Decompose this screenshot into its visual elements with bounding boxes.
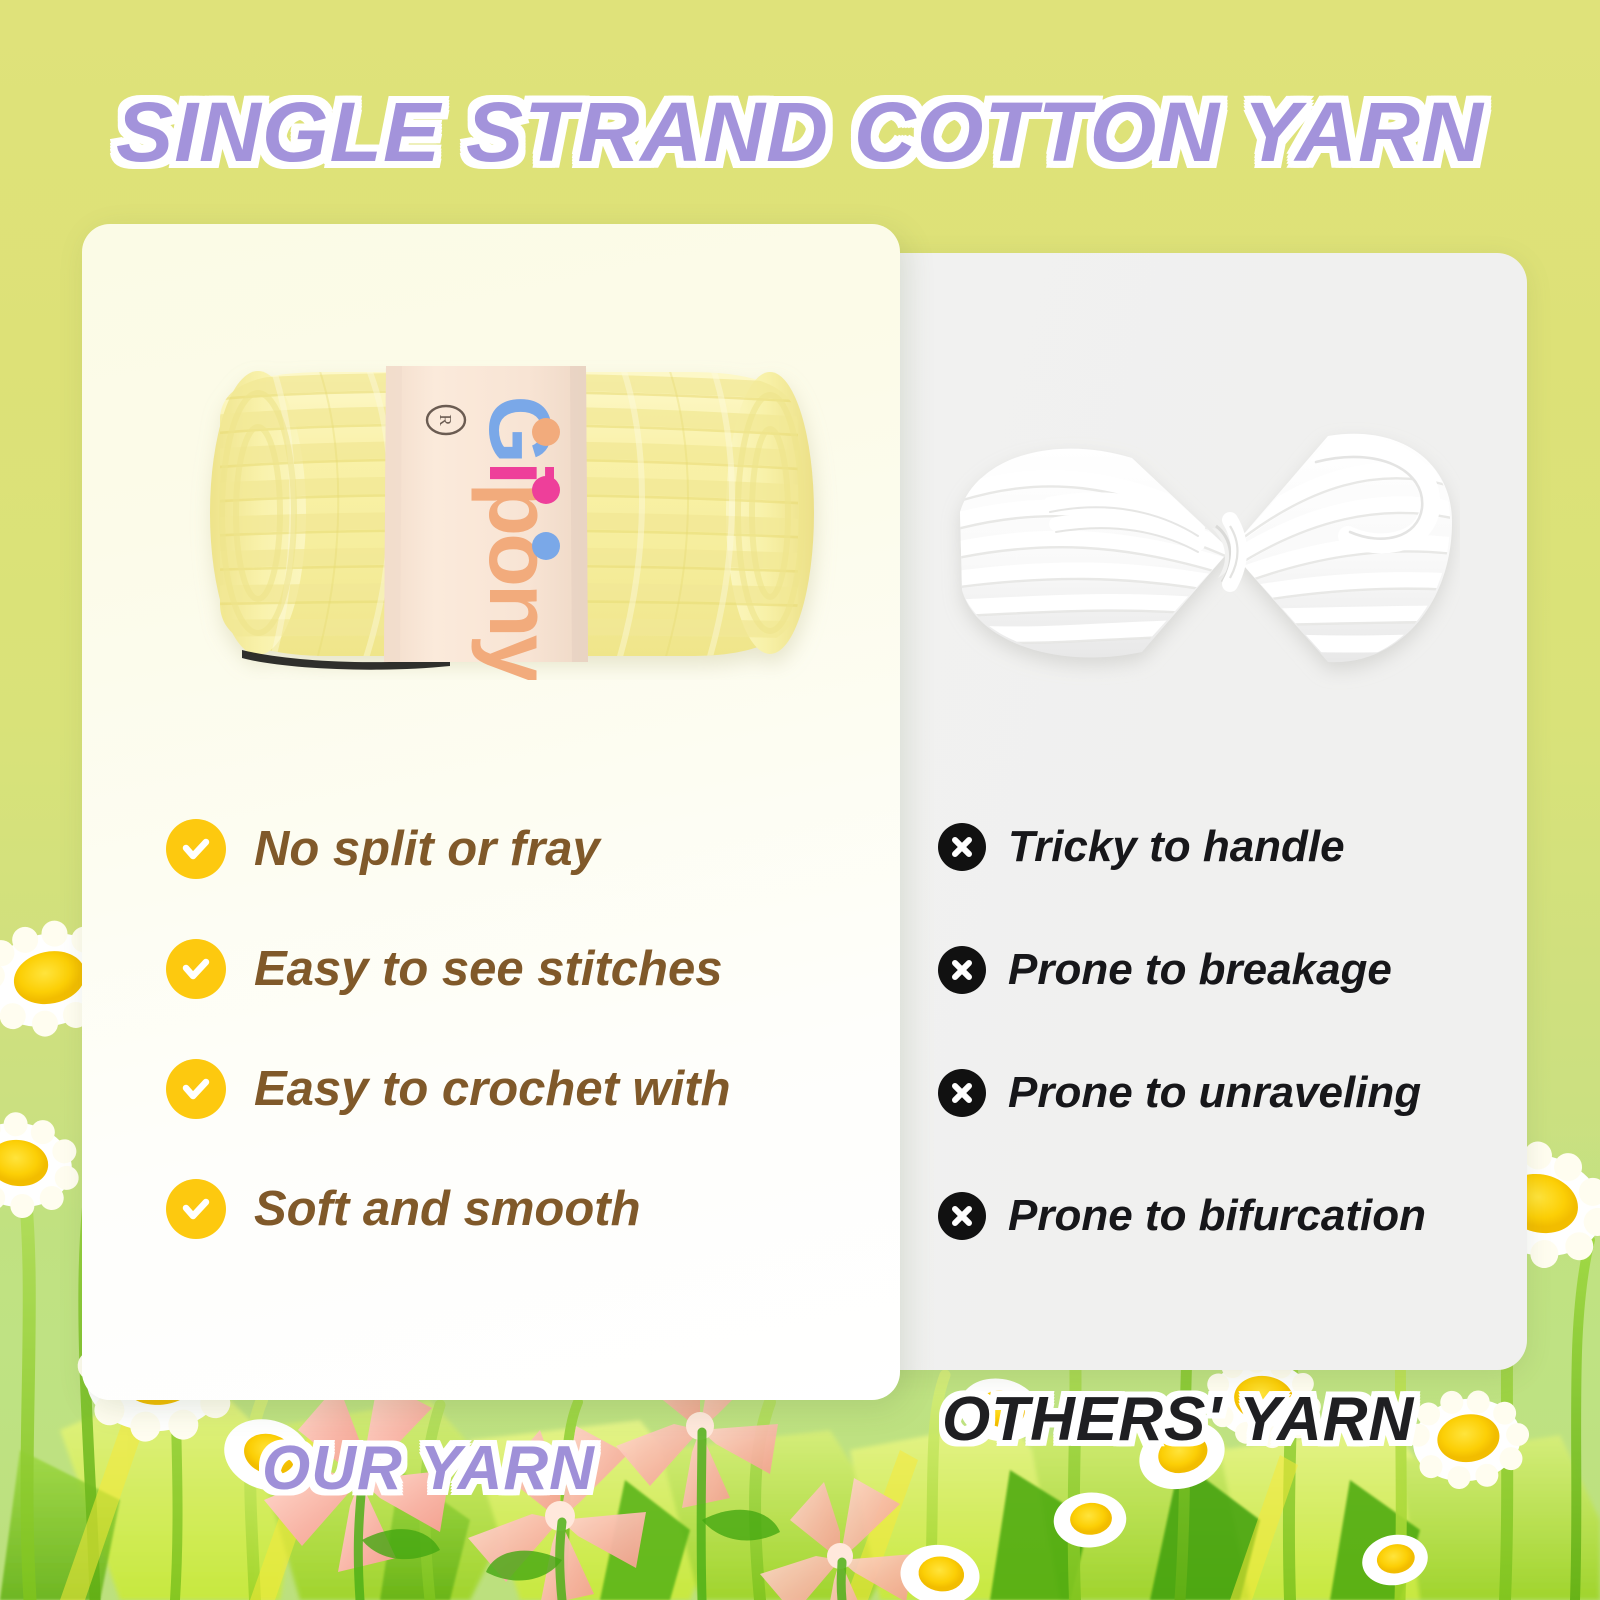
list-item: Soft and smooth: [166, 1174, 866, 1244]
list-item-label: Soft and smooth: [254, 1181, 641, 1237]
cross-icon: [938, 823, 986, 871]
list-item-label: Easy to see stitches: [254, 941, 722, 997]
check-icon: [166, 1059, 226, 1119]
white-yarn-hank-image: [930, 400, 1460, 700]
list-item: Prone to breakage: [938, 941, 1498, 999]
check-icon: [166, 939, 226, 999]
svg-text:R: R: [436, 414, 455, 426]
list-item-label: Prone to breakage: [1008, 945, 1392, 995]
page-title: SINGLE STRAND COTTON YARN: [0, 84, 1600, 180]
list-item-label: Tricky to handle: [1008, 822, 1345, 872]
list-item: No split or fray: [166, 814, 866, 884]
list-item: Easy to see stitches: [166, 934, 866, 1004]
yellow-yarn-skein-image: R Gipony: [150, 360, 850, 680]
check-icon: [166, 1179, 226, 1239]
list-item-label: Prone to unraveling: [1008, 1068, 1421, 1118]
check-icon: [166, 819, 226, 879]
our-yarn-feature-list: No split or fray Easy to see stitches Ea…: [166, 814, 866, 1244]
list-item: Tricky to handle: [938, 818, 1498, 876]
list-item: Prone to bifurcation: [938, 1187, 1498, 1245]
list-item: Prone to unraveling: [938, 1064, 1498, 1122]
cross-icon: [938, 1192, 986, 1240]
infographic-canvas: SINGLE STRAND COTTON YARN: [0, 0, 1600, 1600]
cross-icon: [938, 1069, 986, 1117]
others-yarn-feature-list: Tricky to handle Prone to breakage Prone…: [938, 818, 1498, 1245]
list-item-label: Easy to crochet with: [254, 1061, 731, 1117]
list-item: Easy to crochet with: [166, 1054, 866, 1124]
our-yarn-caption: OUR YARN: [262, 1432, 595, 1506]
list-item-label: Prone to bifurcation: [1008, 1191, 1426, 1241]
others-yarn-caption: OTHERS' YARN: [942, 1383, 1414, 1457]
cross-icon: [938, 946, 986, 994]
list-item-label: No split or fray: [254, 821, 600, 877]
